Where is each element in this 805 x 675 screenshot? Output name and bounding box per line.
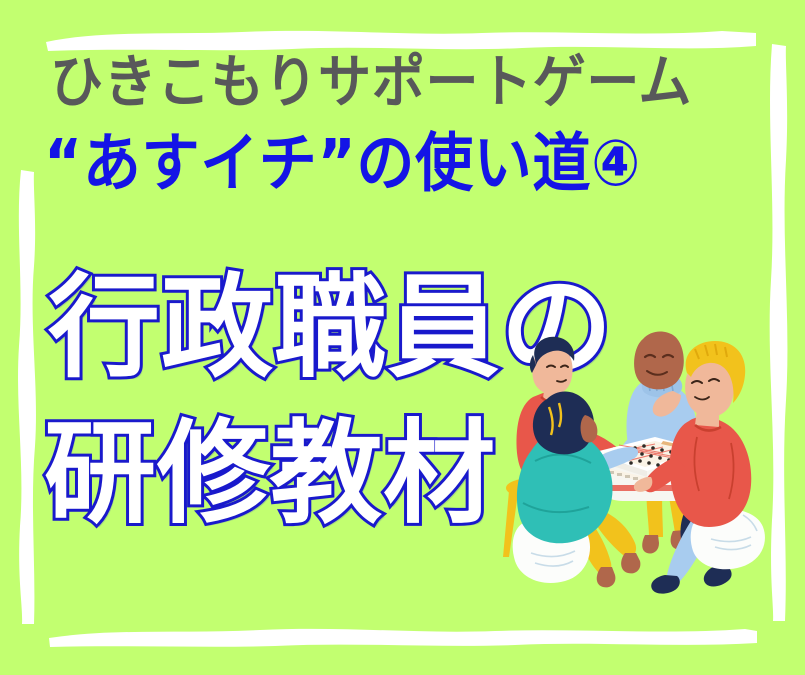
frame-stroke-top [42,22,760,52]
subtitle-line-2: “あすイチ”の使い道④ [44,131,764,195]
main-title-line-2: 研修教材 [44,418,496,530]
poster-canvas: ひきこもりサポートゲーム “あすイチ”の使い道④ 行政職員の 研修教材 [0,0,805,675]
subtitle-line-1: ひきこもりサポートゲーム [50,54,770,111]
frame-stroke-left [10,166,40,628]
board-game-illustration [495,325,795,615]
frame-stroke-bottom [45,622,760,648]
